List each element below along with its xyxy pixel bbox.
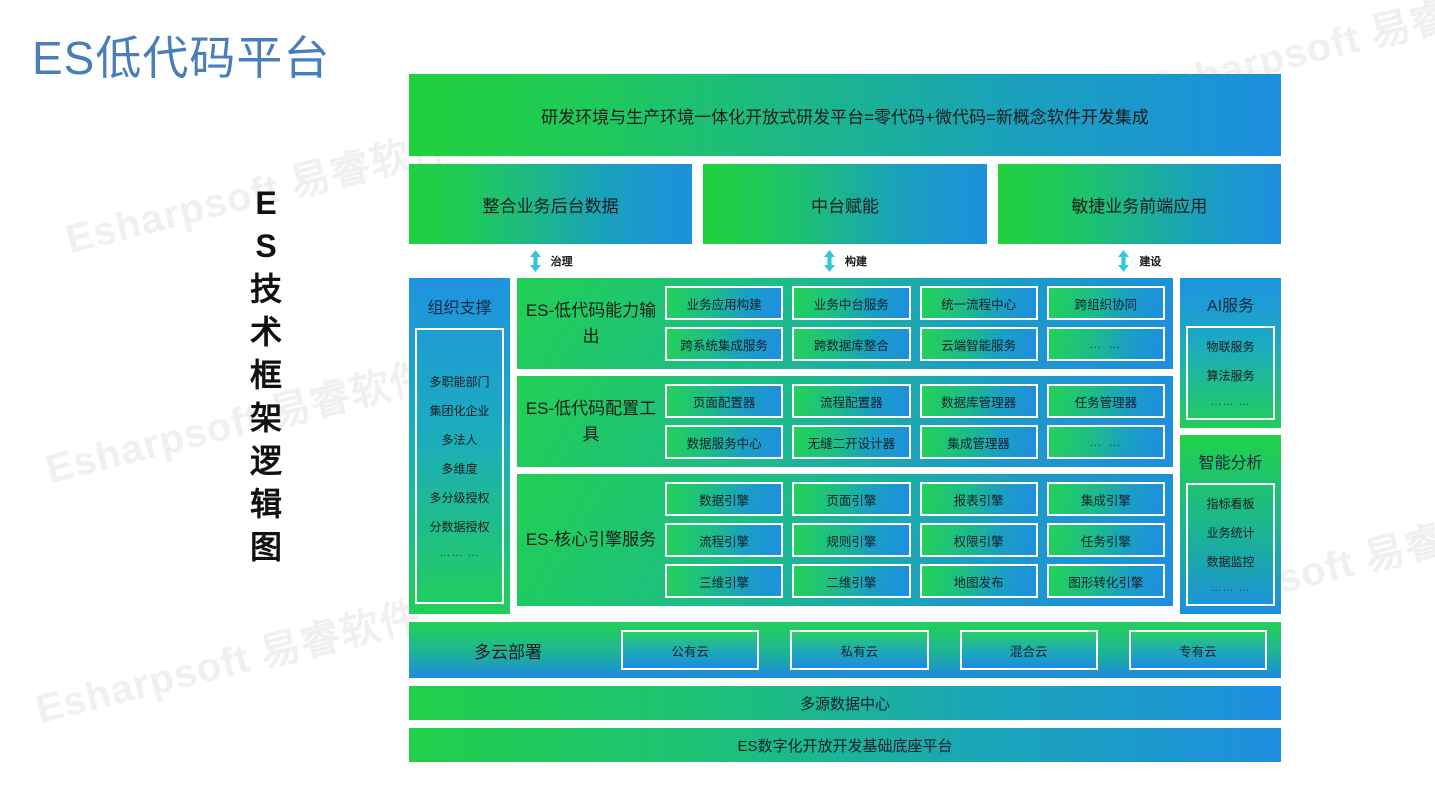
left-panel-title: 组织支撑 [427,294,491,318]
cloud-cell[interactable]: 专有云 [1129,630,1267,670]
arrow-label: 建设 [1139,253,1161,269]
base-platform-bar: ES数字化开放开发基础底座平台 [409,728,1281,762]
capability-box: 整合业务后台数据 [409,164,692,244]
vertical-title-char: 逻 [243,440,289,483]
grid-row: 页面配置器流程配置器数据库管理器任务管理器 [665,384,1165,418]
left-panel-items: 多职能部门集团化企业多法人多维度多分级授权分数据授权…… … [415,328,504,604]
feature-cell[interactable]: 任务引擎 [1047,523,1165,557]
feature-cell[interactable]: 集成管理器 [920,425,1038,459]
layer-1: ES-低代码能力输出业务应用构建业务中台服务统一流程中心跨组织协同跨系统集成服务… [517,278,1173,369]
feature-cell[interactable]: 跨系统集成服务 [665,327,783,361]
feature-cell[interactable]: 二维引擎 [792,564,910,598]
left-panel-item: 多维度 [441,460,477,477]
feature-cell[interactable]: 数据库管理器 [920,384,1038,418]
feature-cell[interactable]: … … [1047,425,1165,459]
right-panel-item: 业务统计 [1206,524,1254,541]
feature-cell[interactable]: 集成引擎 [1047,482,1165,516]
right-panel-item: …… … [1210,396,1250,408]
feature-cell[interactable]: 权限引擎 [920,523,1038,557]
feature-cell[interactable]: 地图发布 [920,564,1038,598]
feature-cell[interactable]: 图形转化引擎 [1047,564,1165,598]
double-arrow-icon [529,250,542,272]
layer-label: ES-低代码能力输出 [517,286,665,361]
feature-cell[interactable]: 三维引擎 [665,564,783,598]
slide-canvas: Esharpsoft 易睿软件 Esharpsoft 易睿软件 Esharpso… [0,0,1435,808]
arrow-cell: 治理 [409,247,692,275]
feature-cell[interactable]: 流程配置器 [792,384,910,418]
core-body: 组织支撑 多职能部门集团化企业多法人多维度多分级授权分数据授权…… … ES-低… [409,278,1281,614]
vertical-title-char: 框 [243,354,289,397]
right-panel-title: AI服务 [1207,292,1254,316]
feature-cell[interactable]: 跨数据库整合 [792,327,910,361]
feature-cell[interactable]: 页面配置器 [665,384,783,418]
capability-row: 整合业务后台数据中台赋能敏捷业务前端应用 [409,164,1281,244]
feature-cell[interactable]: 任务管理器 [1047,384,1165,418]
vertical-title: ES技术框架逻辑图 [243,182,289,569]
cloud-cell[interactable]: 公有云 [621,630,759,670]
data-center-bar: 多源数据中心 [409,686,1281,720]
feature-cell[interactable]: 页面引擎 [792,482,910,516]
arrow-label: 构建 [845,253,867,269]
cloud-cell[interactable]: 私有云 [790,630,928,670]
grid-row: 业务应用构建业务中台服务统一流程中心跨组织协同 [665,286,1165,320]
layer-2: ES-低代码配置工具页面配置器流程配置器数据库管理器任务管理器数据服务中心无缝二… [517,376,1173,467]
double-arrow-icon [823,250,836,272]
feature-cell[interactable]: 报表引擎 [920,482,1038,516]
left-support-panel: 组织支撑 多职能部门集团化企业多法人多维度多分级授权分数据授权…… … [409,278,510,614]
multi-cloud-label: 多云部署 [423,638,593,663]
feature-cell[interactable]: 流程引擎 [665,523,783,557]
capability-box: 中台赋能 [703,164,986,244]
left-panel-item: 多法人 [441,431,477,448]
right-panel-1: AI服务物联服务算法服务…… … [1180,278,1281,428]
layer-stack: ES-低代码能力输出业务应用构建业务中台服务统一流程中心跨组织协同跨系统集成服务… [517,278,1173,614]
layer-label: ES-低代码配置工具 [517,384,665,459]
vertical-title-char: E [243,182,289,225]
layer-3: ES-核心引擎服务数据引擎页面引擎报表引擎集成引擎流程引擎规则引擎权限引擎任务引… [517,474,1173,606]
grid-row: 数据服务中心无缝二开设计器集成管理器… … [665,425,1165,459]
left-panel-item: …… … [439,547,479,559]
vertical-title-char: 图 [243,526,289,569]
feature-cell[interactable]: … … [1047,327,1165,361]
cloud-cell[interactable]: 混合云 [960,630,1098,670]
vertical-title-char: 辑 [243,483,289,526]
grid-row: 流程引擎规则引擎权限引擎任务引擎 [665,523,1165,557]
right-panel-items: 物联服务算法服务…… … [1186,326,1275,420]
feature-cell[interactable]: 无缝二开设计器 [792,425,910,459]
right-panel-item: 物联服务 [1206,338,1254,355]
multi-cloud-row: 多云部署 公有云私有云混合云专有云 [409,622,1281,678]
arrow-cell: 建设 [998,247,1281,275]
grid-row: 跨系统集成服务跨数据库整合云端智能服务… … [665,327,1165,361]
right-panel-2: 智能分析指标看板业务统计数据监控…… … [1180,435,1281,614]
feature-cell[interactable]: 云端智能服务 [920,327,1038,361]
left-panel-item: 分数据授权 [429,518,489,535]
feature-cell[interactable]: 统一流程中心 [920,286,1038,320]
feature-cell[interactable]: 数据服务中心 [665,425,783,459]
multi-cloud-cells: 公有云私有云混合云专有云 [621,630,1267,670]
top-banner: 研发环境与生产环境一体化开放式研发平台=零代码+微代码=新概念软件开发集成 [409,74,1281,156]
right-panel-item: 指标看板 [1206,495,1254,512]
layer-label: ES-核心引擎服务 [517,482,665,598]
layer-grid: 业务应用构建业务中台服务统一流程中心跨组织协同跨系统集成服务跨数据库整合云端智能… [665,286,1165,361]
feature-cell[interactable]: 规则引擎 [792,523,910,557]
page-title: ES低代码平台 [32,22,330,88]
vertical-title-char: 技 [243,268,289,311]
right-service-column: AI服务物联服务算法服务…… …智能分析指标看板业务统计数据监控…… … [1180,278,1281,614]
architecture-diagram: 研发环境与生产环境一体化开放式研发平台=零代码+微代码=新概念软件开发集成 整合… [409,74,1281,762]
watermark: Esharpsoft 易睿软件 [29,583,426,735]
vertical-title-char: 术 [243,311,289,354]
feature-cell[interactable]: 业务应用构建 [665,286,783,320]
right-panel-item: …… … [1210,582,1250,594]
feature-cell[interactable]: 数据引擎 [665,482,783,516]
vertical-title-char: S [243,225,289,268]
left-panel-item: 集团化企业 [429,402,489,419]
grid-row: 三维引擎二维引擎地图发布图形转化引擎 [665,564,1165,598]
right-panel-item: 算法服务 [1206,367,1254,384]
layer-grid: 数据引擎页面引擎报表引擎集成引擎流程引擎规则引擎权限引擎任务引擎三维引擎二维引擎… [665,482,1165,598]
right-panel-items: 指标看板业务统计数据监控…… … [1186,483,1275,606]
feature-cell[interactable]: 跨组织协同 [1047,286,1165,320]
arrow-row: 治理构建建设 [409,247,1281,275]
capability-box: 敏捷业务前端应用 [998,164,1281,244]
arrow-label: 治理 [551,253,573,269]
watermark: Esharpsoft 易睿软件 [39,343,436,495]
right-panel-item: 数据监控 [1206,553,1254,570]
arrow-cell: 构建 [703,247,986,275]
layer-grid: 页面配置器流程配置器数据库管理器任务管理器数据服务中心无缝二开设计器集成管理器…… [665,384,1165,459]
feature-cell[interactable]: 业务中台服务 [792,286,910,320]
vertical-title-char: 架 [243,397,289,440]
right-panel-title: 智能分析 [1198,449,1262,473]
left-panel-item: 多分级授权 [429,489,489,506]
left-panel-item: 多职能部门 [429,373,489,390]
double-arrow-icon [1117,250,1130,272]
grid-row: 数据引擎页面引擎报表引擎集成引擎 [665,482,1165,516]
